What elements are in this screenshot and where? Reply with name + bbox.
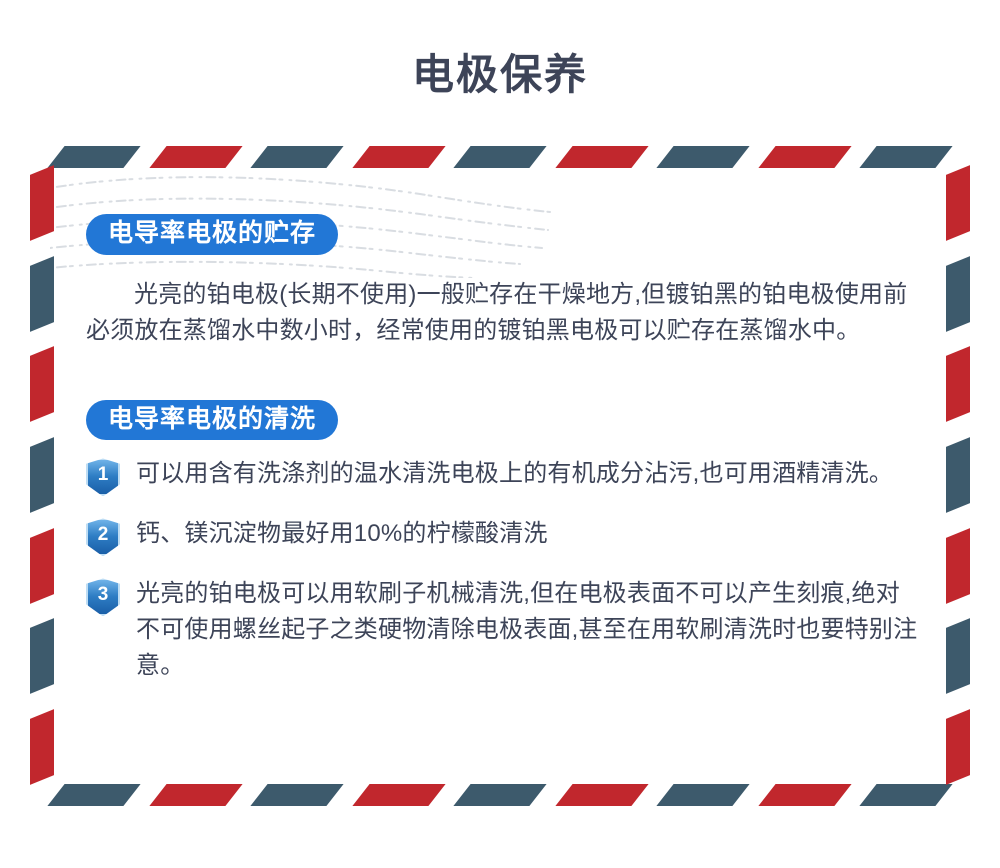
stripe-segment (758, 146, 851, 168)
border-stripes-right (946, 170, 970, 780)
stripe-segment (758, 784, 851, 806)
section-storage: 电导率电极的贮存 光亮的铂电极(长期不使用)一般贮存在干燥地方,但镀铂黑的铂电极… (86, 186, 922, 350)
envelope-card: 电导率电极的贮存 光亮的铂电极(长期不使用)一般贮存在干燥地方,但镀铂黑的铂电极… (30, 146, 970, 806)
list-item: 1 可以用含有洗涤剂的温水清洗电极上的有机成分沾污,也可用酒精清洗。 (86, 456, 922, 496)
stripe-segment (453, 784, 546, 806)
stripe-segment (30, 165, 54, 241)
stripe-segment (352, 784, 445, 806)
stripe-segment (555, 784, 648, 806)
stripe-segment (30, 528, 54, 604)
stripe-segment (352, 146, 445, 168)
page-title: 电极保养 (0, 0, 1000, 108)
stripe-segment (149, 146, 242, 168)
hexagon-number-icon: 1 (86, 458, 120, 496)
section-badge-cleaning: 电导率电极的清洗 (86, 400, 338, 441)
hexagon-number-icon: 2 (86, 518, 120, 556)
stripe-segment (555, 146, 648, 168)
step-number: 3 (86, 578, 120, 616)
cleaning-steps-list: 1 可以用含有洗涤剂的温水清洗电极上的有机成分沾污,也可用酒精清洗。 2 钙、镁… (86, 456, 922, 684)
step-text: 光亮的铂电极可以用软刷子机械清洗,但在电极表面不可以产生刻痕,绝对不可使用螺丝起… (136, 576, 922, 684)
stripe-segment (30, 437, 54, 513)
stripe-segment (47, 146, 140, 168)
border-stripes-top (56, 146, 944, 168)
stripe-segment (30, 618, 54, 694)
stripe-segment (30, 709, 54, 785)
stripe-segment (250, 784, 343, 806)
stripe-segment (946, 709, 970, 785)
stripe-segment (946, 528, 970, 604)
stripe-segment (250, 146, 343, 168)
step-text: 可以用含有洗涤剂的温水清洗电极上的有机成分沾污,也可用酒精清洗。 (136, 456, 922, 492)
list-item: 3 光亮的铂电极可以用软刷子机械清洗,但在电极表面不可以产生刻痕,绝对不可使用螺… (86, 576, 922, 684)
storage-paragraph: 光亮的铂电极(长期不使用)一般贮存在干燥地方,但镀铂黑的铂电极使用前必须放在蒸馏… (86, 277, 922, 350)
stripe-segment (946, 618, 970, 694)
stripe-segment (453, 146, 546, 168)
stripe-segment (946, 346, 970, 422)
section-badge-storage: 电导率电极的贮存 (86, 214, 338, 255)
stripe-segment (30, 346, 54, 422)
section-cleaning: 电导率电极的清洗 1 可以用含有洗涤剂的温水清洗电极上的有机成分沾污,也可用酒精… (86, 350, 922, 685)
card-content: 电导率电极的贮存 光亮的铂电极(长期不使用)一般贮存在干燥地方,但镀铂黑的铂电极… (86, 186, 922, 766)
stripe-segment (946, 437, 970, 513)
step-number: 2 (86, 518, 120, 556)
border-stripes-bottom (56, 784, 944, 806)
list-item: 2 钙、镁沉淀物最好用10%的柠檬酸清洗 (86, 516, 922, 556)
step-text: 钙、镁沉淀物最好用10%的柠檬酸清洗 (136, 516, 922, 552)
stripe-segment (859, 146, 952, 168)
stripe-segment (47, 784, 140, 806)
border-stripes-left (30, 170, 54, 780)
hexagon-number-icon: 3 (86, 578, 120, 616)
stripe-segment (859, 784, 952, 806)
stripe-segment (149, 784, 242, 806)
stripe-segment (656, 146, 749, 168)
stripe-segment (946, 165, 970, 241)
stripe-segment (656, 784, 749, 806)
step-number: 1 (86, 458, 120, 496)
stripe-segment (946, 256, 970, 332)
stripe-segment (30, 256, 54, 332)
